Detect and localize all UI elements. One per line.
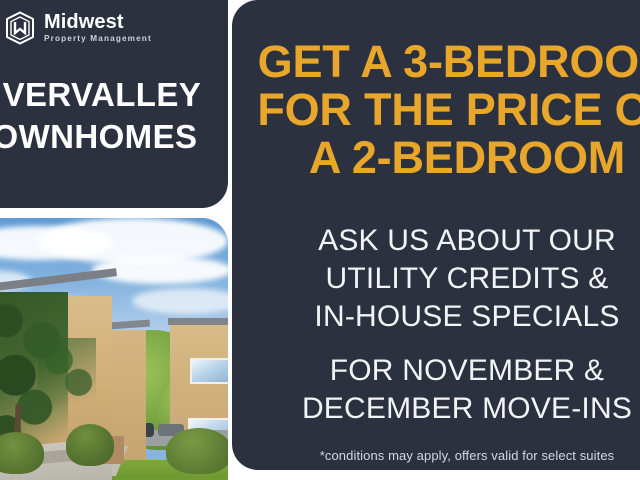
offer-line-1: ASK US ABOUT OUR <box>232 222 640 260</box>
timing-line-2: DECEMBER MOVE-INS <box>232 390 640 428</box>
brand-logo: Midwest Property Management <box>5 11 152 45</box>
headline-line-1: GET A 3-BEDROOM <box>232 38 640 86</box>
headline-line-3: A 2-BEDROOM <box>232 134 640 182</box>
promo-disclaimer: *conditions may apply, offers valid for … <box>232 448 640 464</box>
photo-shrub <box>66 424 114 466</box>
community-name: RIVERVALLEY TOWNHOMES <box>0 74 228 158</box>
offer-line-2: UTILITY CREDITS & <box>232 260 640 298</box>
cube-logo-icon <box>5 11 35 45</box>
property-photo <box>0 218 228 480</box>
photo-ivy <box>0 292 68 452</box>
offer-line-3: IN-HOUSE SPECIALS <box>232 298 640 336</box>
brand-card: Midwest Property Management RIVERVALLEY … <box>0 0 228 208</box>
photo-window <box>190 358 228 384</box>
brand-name: Midwest <box>44 12 152 32</box>
promo-headline: GET A 3-BEDROOM FOR THE PRICE OF A 2-BED… <box>232 38 640 182</box>
timing-line-1: FOR NOVEMBER & <box>232 352 640 390</box>
promo-offer-text: ASK US ABOUT OUR UTILITY CREDITS & IN-HO… <box>232 222 640 336</box>
photo-shrub <box>166 428 228 474</box>
headline-line-2: FOR THE PRICE OF <box>232 86 640 134</box>
brand-tagline: Property Management <box>44 33 152 44</box>
photo-roofline <box>168 318 228 325</box>
promo-timing-text: FOR NOVEMBER & DECEMBER MOVE-INS <box>232 352 640 428</box>
community-name-line1: RIVERVALLEY <box>0 76 201 113</box>
ad-canvas: Midwest Property Management RIVERVALLEY … <box>0 0 640 480</box>
brand-wordmark: Midwest Property Management <box>44 12 152 44</box>
promo-panel: GET A 3-BEDROOM FOR THE PRICE OF A 2-BED… <box>232 0 640 470</box>
community-name-line2: TOWNHOMES <box>0 118 197 155</box>
